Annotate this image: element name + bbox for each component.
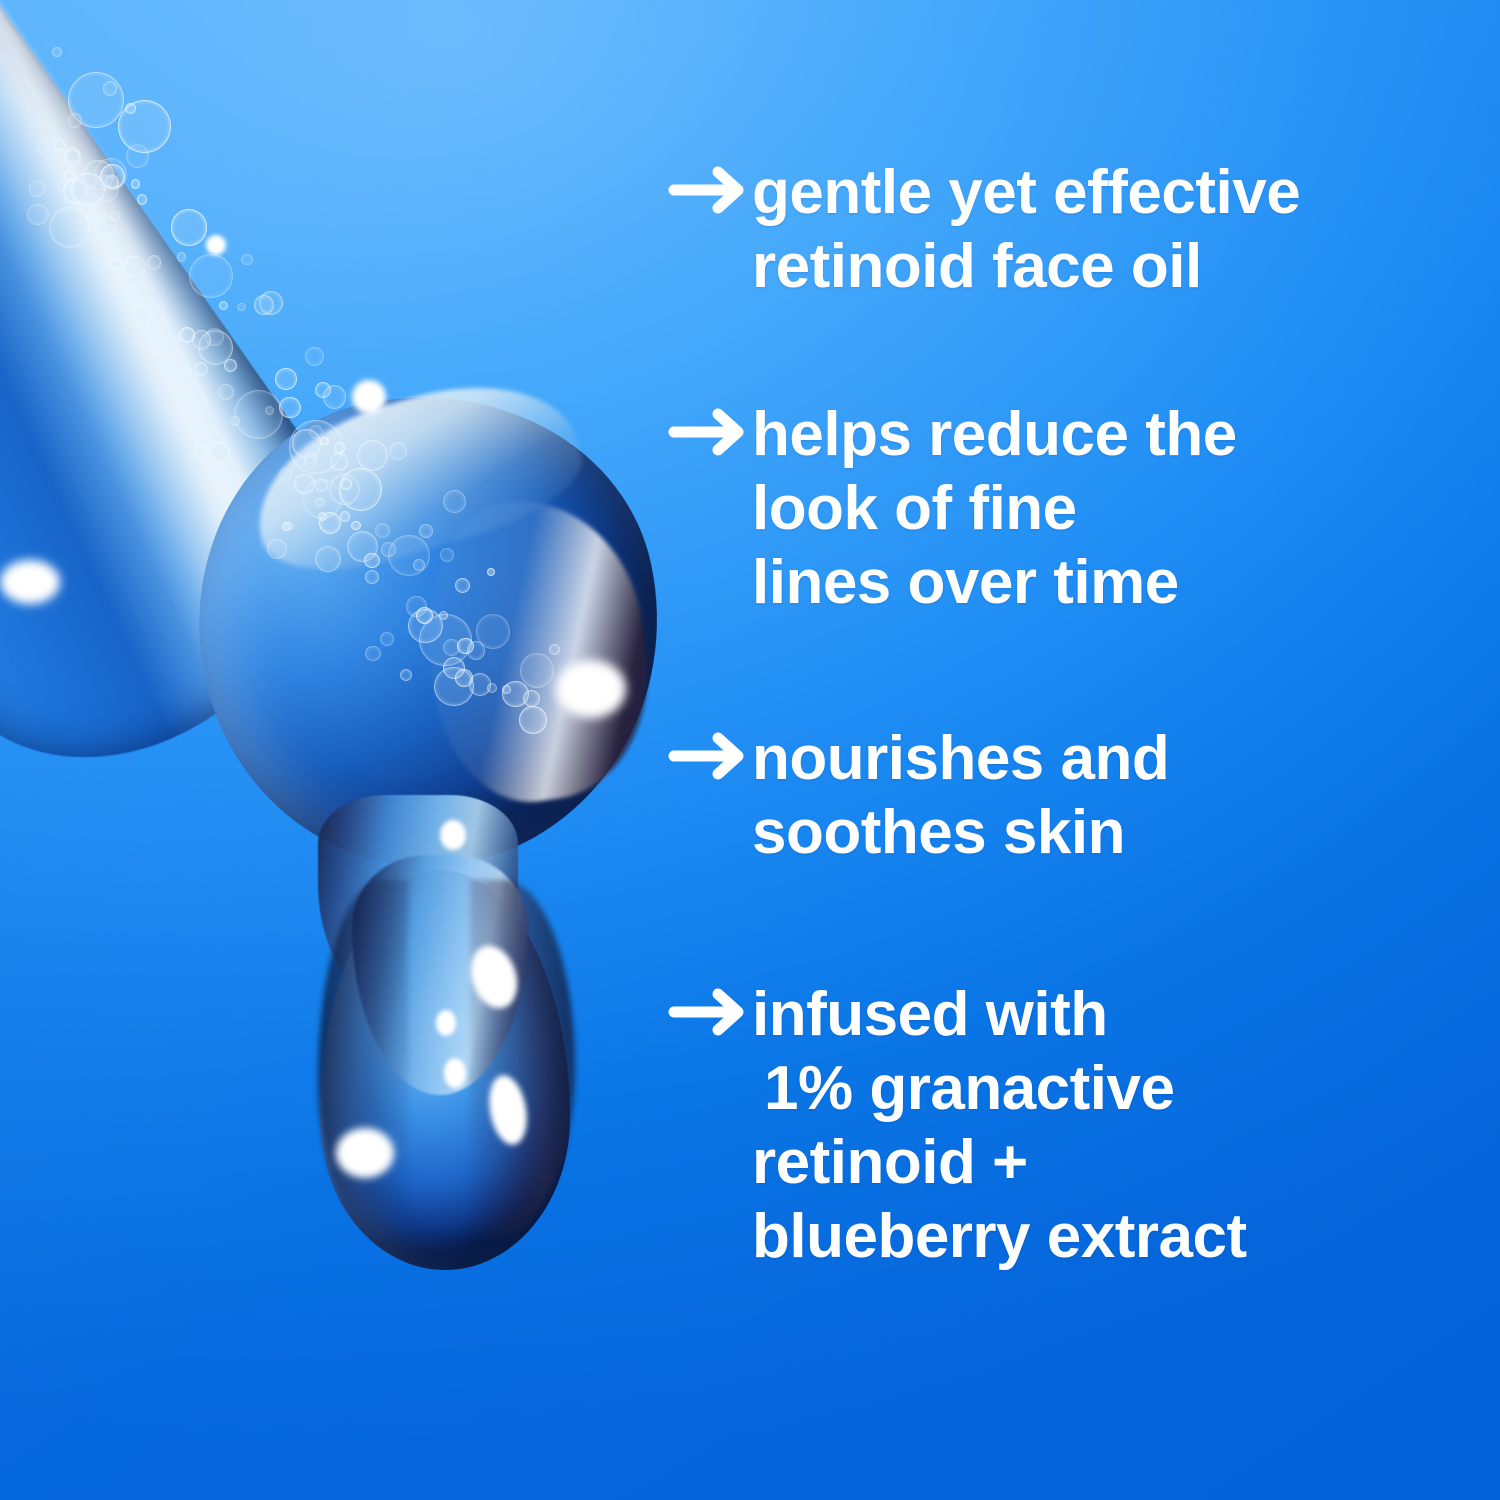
air-bubble	[519, 706, 546, 733]
specular-highlight	[436, 1010, 456, 1036]
air-bubble	[110, 258, 122, 270]
specular-highlight	[556, 660, 626, 718]
feature-line: helps reduce the	[752, 398, 1237, 472]
feature-bullet: gentle yet effective retinoid face oil	[668, 156, 1300, 304]
feature-line: soothes skin	[752, 796, 1169, 870]
air-bubble	[334, 442, 345, 453]
air-bubble	[523, 690, 540, 707]
feature-bullet-text: gentle yet effective retinoid face oil	[752, 156, 1300, 304]
air-bubble	[455, 669, 473, 687]
air-bubble	[457, 638, 474, 655]
air-bubble	[340, 511, 350, 521]
air-bubble	[375, 523, 390, 538]
feature-bullet: helps reduce the look of fine lines over…	[668, 398, 1237, 620]
air-bubble	[110, 211, 120, 221]
air-bubble	[219, 301, 228, 310]
air-bubble	[218, 384, 234, 400]
air-bubble	[520, 653, 554, 687]
air-bubble	[194, 445, 207, 458]
arrow-right-icon	[668, 978, 752, 1038]
air-bubble	[487, 568, 495, 576]
specular-highlight	[206, 235, 226, 255]
feature-line: lines over time	[752, 546, 1237, 620]
feature-line: retinoid face oil	[752, 230, 1300, 304]
air-bubble	[502, 685, 511, 694]
air-bubble	[29, 180, 46, 197]
air-bubble	[304, 451, 317, 464]
feature-line: look of fine	[752, 472, 1237, 546]
feature-bullet-text: helps reduce the look of fine lines over…	[752, 398, 1237, 620]
droplet-right-edge	[470, 880, 575, 1240]
air-bubble	[37, 141, 50, 154]
feature-bullet: nourishes and soothes skin	[668, 722, 1169, 870]
arrow-right-icon	[668, 156, 752, 216]
air-bubble	[237, 303, 245, 311]
air-bubble	[234, 390, 283, 439]
specular-highlight	[444, 1058, 466, 1088]
air-bubble	[265, 406, 274, 415]
feature-bullet-text: nourishes and soothes skin	[752, 722, 1169, 870]
air-bubble	[279, 397, 301, 419]
arrow-right-icon	[668, 722, 752, 782]
air-bubble	[147, 255, 161, 269]
air-bubble	[315, 498, 325, 508]
feature-bullet-text: infused with 1% granactive retinoid + bl…	[752, 978, 1247, 1274]
air-bubble	[27, 204, 48, 225]
air-bubble	[131, 179, 140, 188]
air-bubble	[118, 100, 171, 153]
air-bubble	[209, 442, 230, 463]
air-bubble	[241, 254, 253, 266]
air-bubble	[380, 632, 394, 646]
air-bubble	[267, 539, 287, 559]
air-bubble	[137, 194, 148, 205]
feature-line: nourishes and	[752, 722, 1169, 796]
air-bubble	[443, 490, 466, 513]
air-bubble	[53, 139, 65, 151]
air-bubble	[98, 218, 107, 227]
air-bubble	[364, 553, 379, 568]
specular-highlight	[352, 380, 386, 414]
specular-highlight	[336, 1128, 394, 1178]
air-bubble	[194, 362, 208, 376]
feature-bullet: infused with 1% granactive retinoid + bl…	[668, 978, 1247, 1274]
feature-line: gentle yet effective	[752, 156, 1300, 230]
air-bubble	[205, 328, 223, 346]
air-bubble	[177, 252, 187, 262]
feature-bullet-list: gentle yet effective retinoid face oil h…	[668, 0, 1468, 1500]
feature-line: blueberry extract	[752, 1200, 1247, 1274]
feature-line: retinoid +	[752, 1126, 1247, 1200]
arrow-right-icon	[668, 398, 752, 458]
air-bubble	[52, 47, 61, 56]
air-bubble	[132, 306, 151, 325]
air-bubble	[171, 209, 208, 246]
air-bubble	[365, 646, 380, 661]
air-bubble	[339, 468, 382, 511]
air-bubble	[305, 347, 324, 366]
air-bubble	[413, 559, 425, 571]
air-bubble	[127, 256, 138, 267]
feature-line: 1% granactive	[752, 1052, 1247, 1126]
air-bubble	[189, 254, 233, 298]
air-bubble	[388, 535, 430, 577]
air-bubble	[351, 521, 360, 530]
air-bubble	[68, 113, 82, 127]
air-bubble	[406, 596, 427, 617]
air-bubble	[275, 368, 296, 389]
air-bubble	[400, 669, 412, 681]
air-bubble	[166, 354, 176, 364]
specular-highlight	[0, 560, 60, 604]
product-feature-graphic: gentle yet effective retinoid face oil h…	[0, 0, 1500, 1500]
air-bubble	[93, 175, 119, 201]
air-bubble	[285, 522, 294, 531]
feature-line: infused with	[752, 978, 1247, 1052]
air-bubble	[323, 385, 346, 408]
dropper-photo	[0, 0, 760, 1400]
air-bubble	[231, 416, 241, 426]
specular-highlight	[440, 820, 466, 850]
